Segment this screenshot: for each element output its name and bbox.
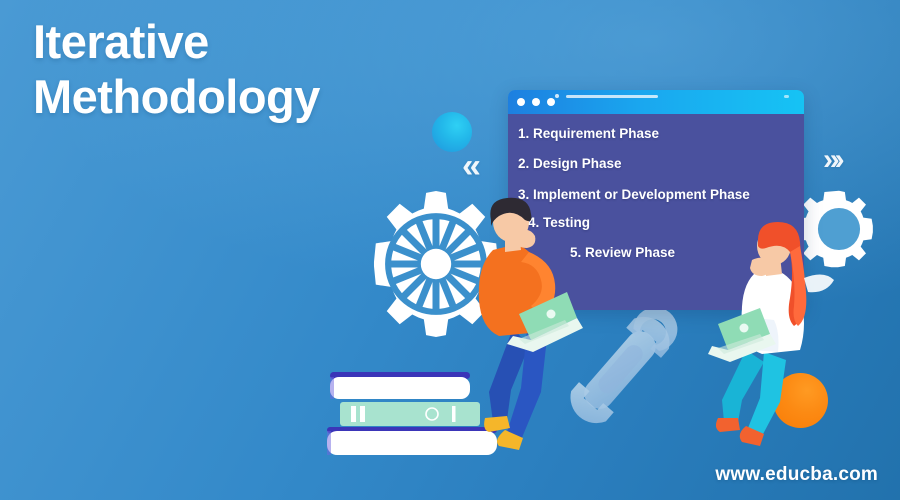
titlebar-right-marker xyxy=(784,95,789,98)
page-title: Iterative Methodology xyxy=(33,14,463,125)
poster-canvas: Iterative Methodology « »› xyxy=(0,0,900,500)
titlebar-tick xyxy=(555,94,559,98)
cyan-circle-decoration xyxy=(432,112,472,152)
window-dot-close[interactable] xyxy=(517,98,525,106)
phase-item-1: 1. Requirement Phase xyxy=(518,125,794,142)
double-chevron-right-icon: »› xyxy=(823,143,840,177)
seated-man-with-laptop-illustration xyxy=(455,196,585,458)
watermark-url: www.educba.com xyxy=(715,464,878,486)
window-dot-maximize[interactable] xyxy=(547,98,555,106)
double-chevron-left-icon: « xyxy=(462,147,477,186)
window-controls[interactable] xyxy=(517,98,555,106)
seated-woman-with-laptop-illustration xyxy=(708,222,836,456)
titlebar-address-line xyxy=(566,95,658,98)
phase-item-2: 2. Design Phase xyxy=(518,155,794,172)
window-dot-minimize[interactable] xyxy=(532,98,540,106)
window-titlebar xyxy=(508,90,804,114)
